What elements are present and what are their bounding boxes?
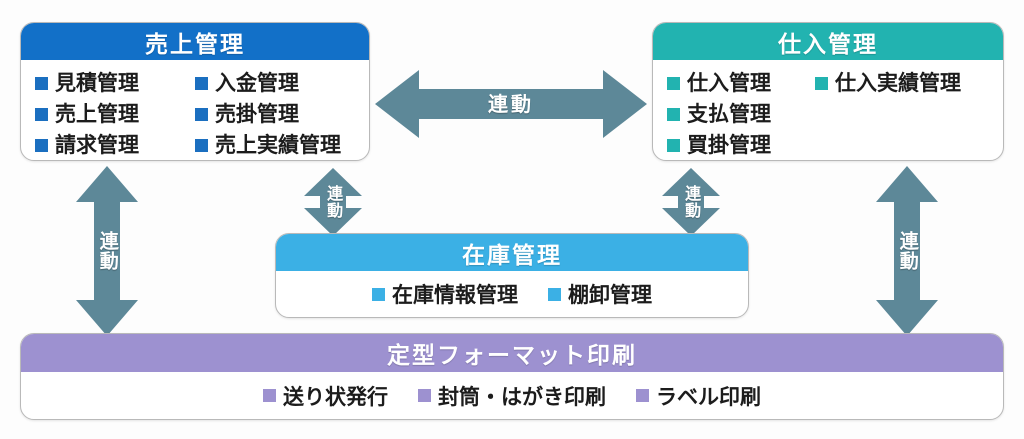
feature-label: 棚卸管理 bbox=[568, 279, 652, 309]
bullet-square-icon bbox=[35, 77, 48, 90]
feature-item: 仕入実績管理 bbox=[815, 68, 1000, 99]
double-arrow-vertical-icon bbox=[874, 166, 940, 336]
link-arrow-purchase-inventory: 連動 bbox=[660, 168, 722, 236]
link-arrow-sales-purchase: 連動 bbox=[375, 68, 647, 140]
module-card-sales[interactable]: 売上管理 見積管理 入金管理 売上管理 売掛管理 請求管理 bbox=[20, 22, 370, 161]
module-card-print[interactable]: 定型フォーマット印刷 送り状発行 封筒・はがき印刷 ラベル印刷 bbox=[20, 333, 1004, 420]
module-feature-list-purchase: 仕入管理 仕入実績管理 支払管理 買掛管理 bbox=[653, 60, 1003, 161]
feature-label: 売上管理 bbox=[55, 104, 139, 125]
feature-label: 入金管理 bbox=[215, 73, 299, 94]
module-card-inventory[interactable]: 在庫管理 在庫情報管理 棚卸管理 bbox=[275, 233, 749, 318]
double-arrow-horizontal-icon bbox=[375, 68, 647, 140]
module-title-inventory: 在庫管理 bbox=[276, 234, 748, 271]
bullet-square-icon bbox=[815, 77, 828, 90]
feature-item: 売上実績管理 bbox=[195, 130, 355, 161]
feature-label: 買掛管理 bbox=[687, 135, 771, 156]
feature-label: 仕入実績管理 bbox=[835, 73, 961, 94]
feature-spacer bbox=[815, 99, 1000, 130]
feature-item: 支払管理 bbox=[667, 99, 815, 130]
bullet-square-icon bbox=[372, 288, 385, 301]
feature-item: 買掛管理 bbox=[667, 130, 815, 161]
module-title-purchase: 仕入管理 bbox=[653, 23, 1003, 60]
feature-item: 送り状発行 bbox=[263, 381, 388, 411]
module-feature-list-print: 送り状発行 封筒・はがき印刷 ラベル印刷 bbox=[21, 372, 1003, 419]
feature-label: 送り状発行 bbox=[283, 381, 388, 411]
feature-item: 入金管理 bbox=[195, 68, 355, 99]
module-feature-list-inventory: 在庫情報管理 棚卸管理 bbox=[276, 271, 748, 317]
feature-label: 売上実績管理 bbox=[215, 135, 341, 156]
bullet-square-icon bbox=[195, 77, 208, 90]
bullet-square-icon bbox=[667, 108, 680, 121]
feature-item: 封筒・はがき印刷 bbox=[418, 381, 606, 411]
bullet-square-icon bbox=[195, 108, 208, 121]
feature-item: 見積管理 bbox=[35, 68, 195, 99]
bullet-square-icon bbox=[35, 139, 48, 152]
feature-label: 支払管理 bbox=[687, 104, 771, 125]
double-arrow-vertical-icon bbox=[302, 168, 364, 236]
bullet-square-icon bbox=[548, 288, 561, 301]
feature-item: 仕入管理 bbox=[667, 68, 815, 99]
feature-item: 売上管理 bbox=[35, 99, 195, 130]
bullet-square-icon bbox=[263, 389, 276, 402]
bullet-square-icon bbox=[636, 389, 649, 402]
diagram-canvas: 売上管理 見積管理 入金管理 売上管理 売掛管理 請求管理 bbox=[0, 0, 1024, 439]
module-card-purchase[interactable]: 仕入管理 仕入管理 仕入実績管理 支払管理 買掛管理 bbox=[652, 22, 1004, 161]
link-arrow-sales-print: 連動 bbox=[74, 166, 140, 336]
feature-item: 棚卸管理 bbox=[548, 279, 652, 309]
feature-item: 在庫情報管理 bbox=[372, 279, 518, 309]
link-arrow-sales-inventory: 連動 bbox=[302, 168, 364, 236]
bullet-square-icon bbox=[667, 139, 680, 152]
feature-item: 売掛管理 bbox=[195, 99, 355, 130]
bullet-square-icon bbox=[418, 389, 431, 402]
bullet-square-icon bbox=[35, 108, 48, 121]
feature-label: 在庫情報管理 bbox=[392, 279, 518, 309]
module-title-print: 定型フォーマット印刷 bbox=[21, 334, 1003, 372]
feature-label: 仕入管理 bbox=[687, 73, 771, 94]
feature-item: ラベル印刷 bbox=[636, 381, 761, 411]
double-arrow-vertical-icon bbox=[74, 166, 140, 336]
feature-label: 見積管理 bbox=[55, 73, 139, 94]
bullet-square-icon bbox=[195, 139, 208, 152]
module-title-sales: 売上管理 bbox=[21, 23, 369, 60]
double-arrow-vertical-icon bbox=[660, 168, 722, 236]
feature-item: 請求管理 bbox=[35, 130, 195, 161]
link-arrow-purchase-print: 連動 bbox=[874, 166, 940, 336]
bullet-square-icon bbox=[667, 77, 680, 90]
module-feature-list-sales: 見積管理 入金管理 売上管理 売掛管理 請求管理 売上実績管理 bbox=[21, 60, 369, 161]
feature-label: 封筒・はがき印刷 bbox=[438, 381, 606, 411]
feature-label: 請求管理 bbox=[55, 135, 139, 156]
feature-label: 売掛管理 bbox=[215, 104, 299, 125]
feature-label: ラベル印刷 bbox=[656, 381, 761, 411]
